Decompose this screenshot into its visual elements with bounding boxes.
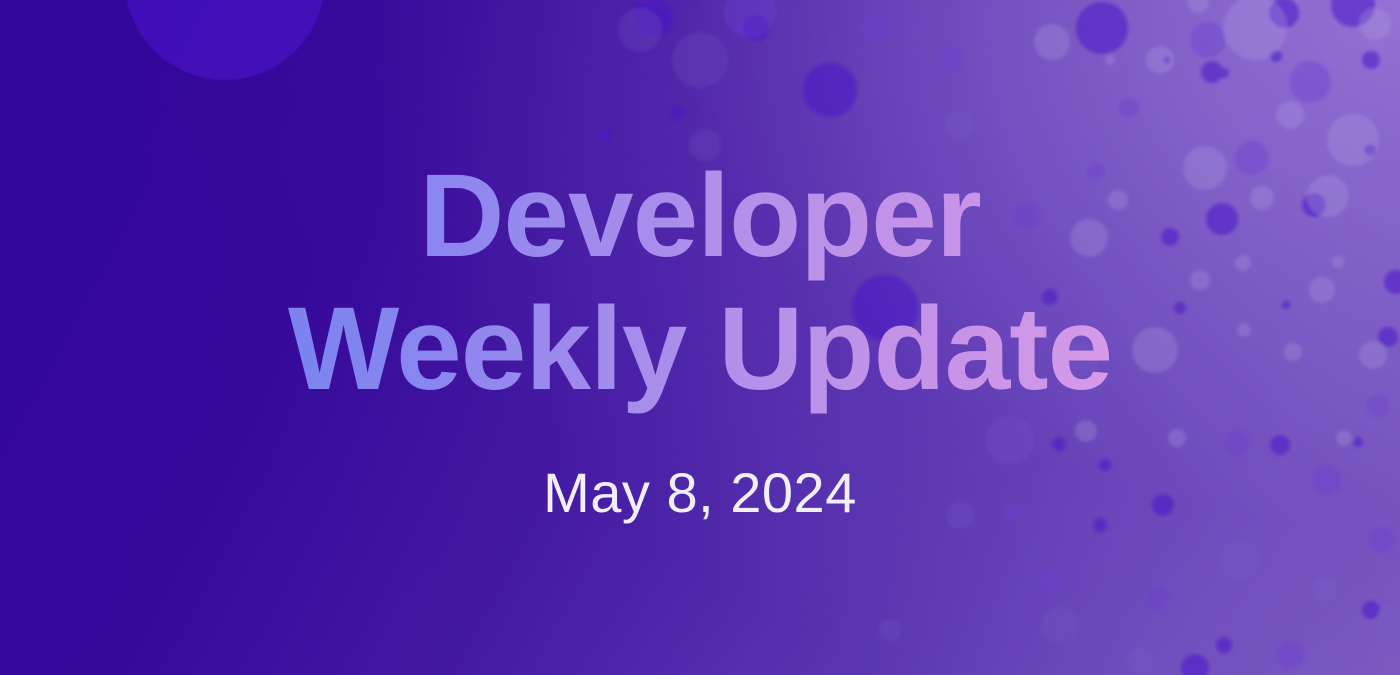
title-line-2: Weekly Update [288, 283, 1112, 416]
title-line-1: Developer [288, 150, 1112, 283]
page-title: Developer Weekly Update [288, 150, 1112, 416]
slide-date: May 8, 2024 [543, 460, 857, 525]
slide-content: Developer Weekly Update May 8, 2024 [0, 0, 1400, 675]
title-slide: Developer Weekly Update May 8, 2024 [0, 0, 1400, 675]
